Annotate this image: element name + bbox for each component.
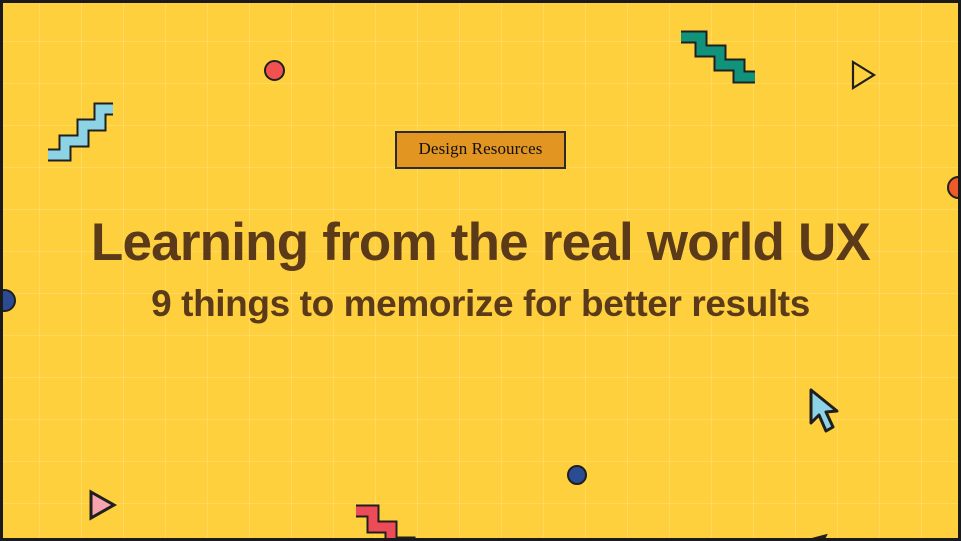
page-subtitle: 9 things to memorize for better results [151, 284, 810, 325]
presentation-slide: Design Resources Learning from the real … [0, 0, 961, 541]
design-resources-badge[interactable]: Design Resources [395, 131, 567, 169]
page-title: Learning from the real world UX [91, 215, 870, 270]
slide-content: Design Resources Learning from the real … [3, 3, 958, 538]
